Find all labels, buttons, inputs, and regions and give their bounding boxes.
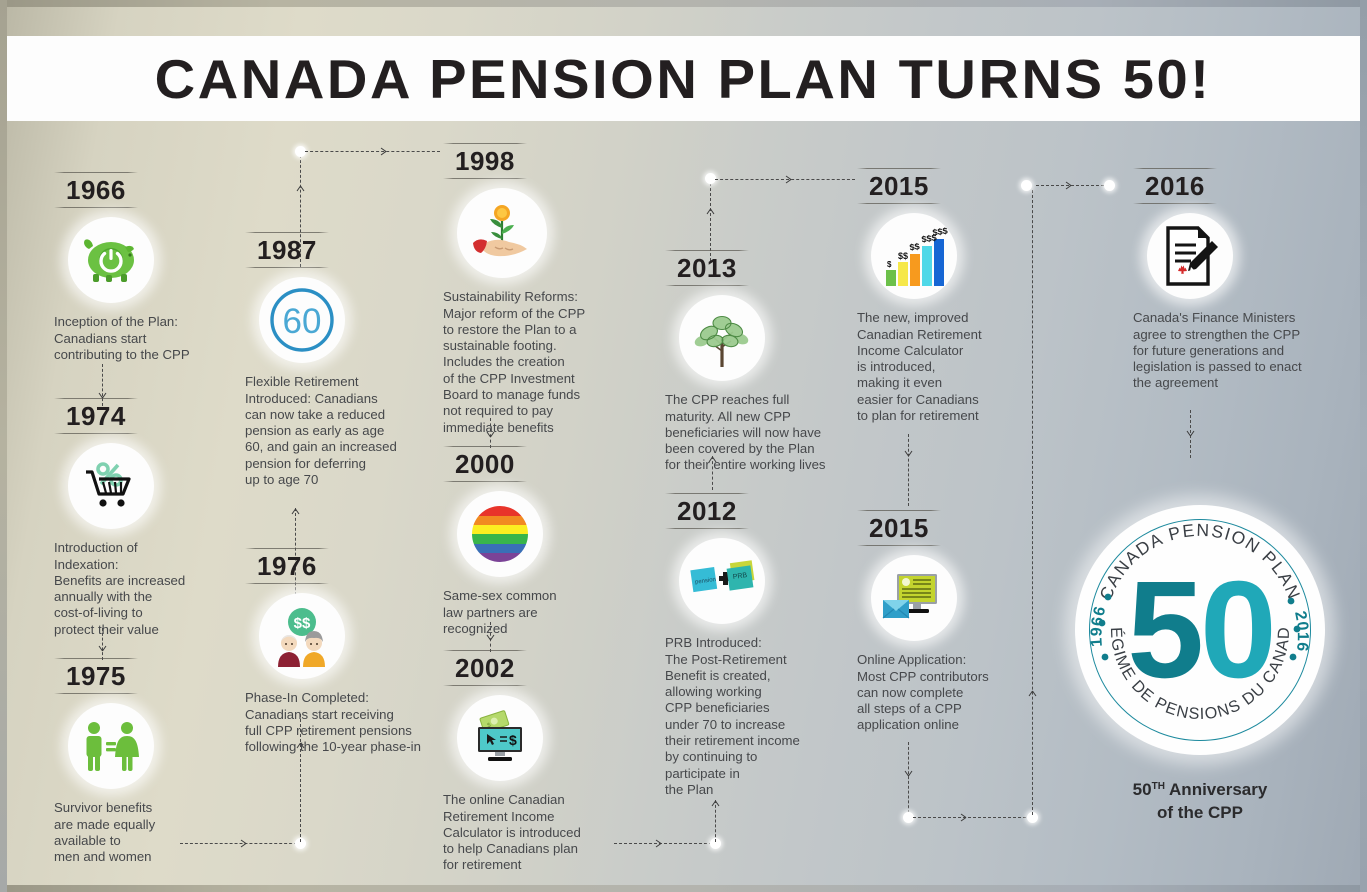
anniversary-seal: CANADA PENSION PLAN RÉGIME DE PENSIONS D… (1075, 505, 1325, 755)
year-label: 2015 (857, 168, 941, 204)
event-icon-2016 (1147, 213, 1233, 299)
rising-bar-chart-dollars-icon: $ $$ $$ $$$ $$$ (880, 222, 948, 290)
title-banner: CANADA PENSION PLAN TURNS 50! (7, 36, 1360, 121)
seal-caption-line2: of the CPP (1070, 801, 1330, 824)
event-text-2002: The online Canadian Retirement Income Ca… (443, 792, 618, 873)
mature-tree-icon (689, 307, 755, 369)
arrow-down-icon (98, 643, 107, 652)
svg-text:$: $ (509, 732, 517, 748)
pension-plus-prb-cards-icon: pension PRB (688, 556, 756, 606)
shopping-cart-percent-icon (82, 458, 140, 514)
event-2013: 2013 (665, 250, 860, 474)
arrow-right-icon (1065, 181, 1074, 190)
year-label-wrap: 2015 (857, 168, 941, 204)
event-2012: 2012 pension PRB PRB Introduced: The Pos… (665, 493, 845, 798)
monitor-cursor-dollar-icon: $ $ (468, 709, 532, 767)
year-label: 2013 (665, 250, 749, 286)
event-icon-1998 (457, 188, 547, 278)
event-2000: 2000 Same-sex common law partners are re… (443, 446, 613, 637)
frame-border-top (0, 0, 1367, 7)
event-text-1998: Sustainability Reforms: Major reform of … (443, 289, 623, 436)
event-icon-2000 (457, 491, 543, 577)
frame-border-bottom (0, 885, 1367, 892)
senior-couple-dollars-icon: $$ (271, 605, 333, 667)
frame-border-left (0, 0, 7, 892)
event-text-1987: Flexible Retirement Introduced: Canadian… (245, 374, 445, 488)
event-2002: 2002 $ $ The online Canadian Retirement … (443, 650, 618, 874)
event-2016: 2016 Canada's Finance Ministers agree to… (1133, 168, 1333, 392)
seal-caption: 50TH Anniversary of the CPP (1070, 775, 1330, 824)
year-label: 2012 (665, 493, 749, 529)
event-icon-1975 (68, 703, 154, 789)
year-label: 1998 (443, 143, 527, 179)
connector-node (1104, 180, 1115, 191)
seal-number-first: 5 (1127, 553, 1200, 707)
year-label-wrap: 1966 (54, 172, 138, 208)
page-title: CANADA PENSION PLAN TURNS 50! (155, 47, 1212, 111)
svg-text:60: 60 (283, 302, 322, 341)
seal-number-second: 0 (1200, 553, 1273, 707)
seal-caption-ordinal: TH (1152, 781, 1165, 792)
connector-2015-down-v (908, 742, 909, 818)
arrow-right-icon (960, 813, 969, 822)
connector-bottom-right-h (913, 817, 1031, 818)
event-icon-1974 (68, 443, 154, 529)
event-text-2015-online-application: Online Application: Most CPP contributor… (857, 652, 1032, 733)
event-icon-1987: 60 (259, 277, 345, 363)
svg-text:$$: $$ (294, 615, 311, 632)
year-label: 2000 (443, 446, 527, 482)
document-pencil-maple-leaf-icon (1160, 225, 1220, 287)
piggy-bank-power-icon (81, 233, 141, 287)
event-text-2000: Same-sex common law partners are recogni… (443, 588, 613, 637)
arrow-right-icon (240, 839, 249, 848)
year-label: 1987 (245, 232, 329, 268)
event-text-1966: Inception of the Plan: Canadians start c… (54, 314, 234, 363)
event-text-2016: Canada's Finance Ministers agree to stre… (1133, 310, 1333, 391)
event-icon-2015-online-application (871, 555, 957, 641)
event-text-2013: The CPP reaches full maturity. All new C… (665, 392, 860, 473)
age-sixty-circle-icon: 60 (266, 284, 338, 356)
event-icon-1966 (68, 217, 154, 303)
svg-text:$$$: $$$ (932, 226, 948, 238)
year-label-wrap: 2002 (443, 650, 527, 686)
event-text-1976: Phase-In Completed: Canadians start rece… (245, 690, 455, 755)
event-text-2012: PRB Introduced: The Post-Retirement Bene… (665, 635, 845, 798)
event-1974: 1974 Introduction of Indexa (54, 398, 234, 638)
year-label-wrap: 1987 (245, 232, 329, 268)
arrow-down-icon (904, 448, 913, 457)
event-1976: 1976 $$ Phase-In Completed (245, 548, 455, 755)
year-label-wrap: 2000 (443, 446, 527, 482)
seal-caption-number: 50 (1133, 780, 1152, 799)
svg-text:$$: $$ (898, 251, 908, 261)
event-1987: 1987 60 Flexible Retirement Introduced: … (245, 232, 445, 488)
arrow-up-icon (296, 185, 305, 194)
event-icon-2013 (679, 295, 765, 381)
rainbow-circle-icon (472, 506, 528, 562)
event-icon-2012: pension PRB (679, 538, 765, 624)
arrow-up-icon (291, 508, 300, 517)
year-label: 1976 (245, 548, 329, 584)
year-label-wrap: 2013 (665, 250, 749, 286)
monitor-envelope-form-icon (881, 570, 947, 626)
year-label-wrap: 1974 (54, 398, 138, 434)
infographic-poster: CANADA PENSION PLAN TURNS 50! (0, 0, 1367, 892)
event-icon-2015-calculator: $ $$ $$ $$$ $$$ (871, 213, 957, 299)
event-icon-2002: $ $ (457, 695, 543, 781)
year-label: 1974 (54, 398, 138, 434)
svg-text:$: $ (887, 260, 892, 269)
seal-caption-line1: 50TH Anniversary (1070, 775, 1330, 801)
event-2015-calculator: 2015 $ $$ $$ $$$ $$$ The new, improved C… (857, 168, 1042, 424)
event-1998: 1998 Sustainability Reforms: Major refor… (443, 143, 623, 436)
year-label-wrap: 2016 (1133, 168, 1217, 204)
man-equals-woman-icon (80, 720, 142, 772)
event-text-1975: Survivor benefits are made equally avail… (54, 800, 234, 865)
event-text-2015-calculator: The new, improved Canadian Retirement In… (857, 310, 1042, 424)
connector-1987-to-1998-h (305, 151, 440, 152)
connector-to-2016-h (1036, 185, 1114, 186)
event-icon-1976: $$ (259, 593, 345, 679)
event-1966: 1966 Inception of the Plan: Canadians st… (54, 172, 234, 363)
arrow-right-icon (380, 147, 389, 156)
year-label: 2002 (443, 650, 527, 686)
arrow-right-icon (785, 175, 794, 184)
year-label-wrap: 2012 (665, 493, 749, 529)
hand-coin-plant-icon (467, 201, 537, 265)
arrow-down-icon (1186, 428, 1195, 437)
arrow-up-icon (706, 208, 715, 217)
arrow-right-icon (655, 839, 664, 848)
year-label-wrap: 1998 (443, 143, 527, 179)
svg-text:$$: $$ (909, 242, 920, 253)
arrow-down-icon (904, 768, 913, 777)
year-label: 1975 (54, 658, 138, 694)
arrow-up-icon (711, 800, 720, 809)
connector-2015-2015 (908, 434, 909, 506)
event-text-1974: Introduction of Indexation: Benefits are… (54, 540, 234, 638)
seal-number: 50 (1075, 561, 1325, 699)
connector-2002-to-2012-h (614, 843, 717, 844)
event-2015-online-application: 2015 Online Applicat (857, 510, 1032, 734)
year-label: 1966 (54, 172, 138, 208)
event-1975: 1975 Survivor benefits are made equally (54, 658, 234, 865)
year-label: 2015 (857, 510, 941, 546)
year-label-wrap: 1976 (245, 548, 329, 584)
year-label-wrap: 2015 (857, 510, 941, 546)
year-label: 2016 (1133, 168, 1217, 204)
seal-caption-word: Anniversary (1165, 780, 1267, 799)
year-label-wrap: 1975 (54, 658, 138, 694)
frame-border-right (1360, 0, 1367, 892)
